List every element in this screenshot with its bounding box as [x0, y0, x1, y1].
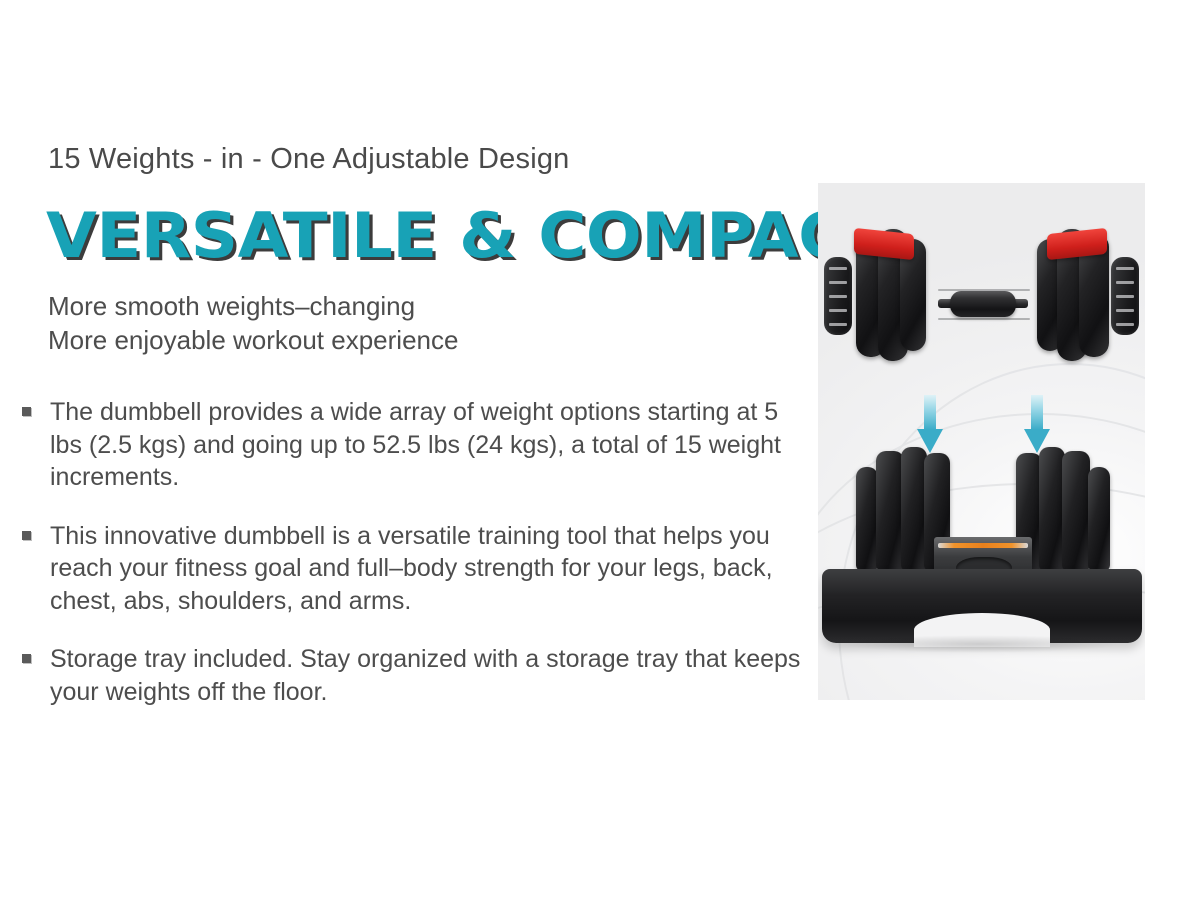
marketing-banner: 15 Weights - in - One Adjustable Design … — [0, 0, 1200, 900]
dumbbell-grip — [950, 291, 1016, 317]
square-bullet-icon — [22, 407, 31, 416]
list-item-text: This innovative dumbbell is a versatile … — [50, 520, 810, 618]
tray-base — [822, 569, 1142, 643]
page-title: VERSATILE & COMPACT — [46, 199, 890, 272]
list-item-text: The dumbbell provides a wide array of we… — [50, 396, 810, 494]
product-photo — [818, 183, 1145, 700]
subtitle-line-1: More smooth weights–changing — [48, 291, 415, 322]
eyebrow-text: 15 Weights - in - One Adjustable Design — [48, 143, 570, 176]
copy-column: 15 Weights - in - One Adjustable Design … — [0, 0, 820, 900]
list-item-text: Storage tray included. Stay organized wi… — [50, 643, 810, 708]
dumbbell-right-weight-stack — [1021, 217, 1141, 377]
list-item: Storage tray included. Stay organized wi… — [20, 643, 810, 708]
list-item: This innovative dumbbell is a versatile … — [20, 520, 810, 618]
storage-tray-image — [822, 445, 1142, 660]
square-bullet-icon — [22, 531, 31, 540]
weight-selector-dial-icon — [1111, 257, 1139, 335]
weight-selector-dial-icon — [824, 257, 852, 335]
subtitle-line-2: More enjoyable workout experience — [48, 325, 458, 356]
square-bullet-icon — [22, 654, 31, 663]
product-shadow — [840, 635, 1120, 653]
orange-indicator-strip — [938, 543, 1028, 548]
adjustable-dumbbell-image — [818, 217, 1145, 377]
feature-list: The dumbbell provides a wide array of we… — [20, 396, 810, 734]
list-item: The dumbbell provides a wide array of we… — [20, 396, 810, 494]
dumbbell-left-weight-stack — [822, 217, 942, 377]
